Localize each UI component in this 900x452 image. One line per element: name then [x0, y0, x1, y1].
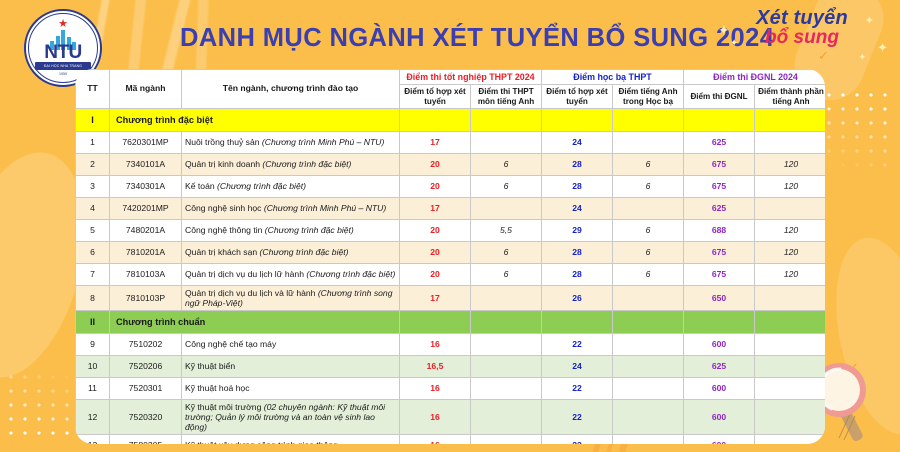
cell-thpt-anh: [471, 399, 542, 434]
cell-hocba-anh: 6: [613, 219, 684, 241]
cell-dgnl-anh: [755, 285, 826, 310]
cell-tt: 1: [76, 131, 110, 153]
section-spacer-cell: [755, 108, 826, 131]
section-numeral: I: [76, 108, 110, 131]
cell-hocba-anh: [613, 434, 684, 444]
cell-dgnl-anh: 120: [755, 241, 826, 263]
col-header-dgnl: Điểm thi ĐGNL: [684, 85, 755, 109]
cell-thpt-anh: [471, 333, 542, 355]
col-header-thpt-tohop: Điểm tổ hợp xét tuyển: [400, 85, 471, 109]
cell-ma-nganh: 7510202: [110, 333, 182, 355]
cell-thpt-tohop: 20: [400, 219, 471, 241]
cell-tt: 5: [76, 219, 110, 241]
cell-tt: 10: [76, 355, 110, 377]
section-spacer-cell: [684, 310, 755, 333]
cell-ten-nganh: Công nghệ chế tạo máy: [182, 333, 400, 355]
cell-dgnl-anh: 120: [755, 175, 826, 197]
logo-band-text: ĐẠI HỌC NHA TRANG: [44, 64, 82, 68]
col-header-hocba-tohop: Điểm tổ hợp xét tuyển: [542, 85, 613, 109]
section-spacer-cell: [755, 310, 826, 333]
cell-thpt-anh: [471, 377, 542, 399]
cell-tt: 12: [76, 399, 110, 434]
cell-thpt-anh: [471, 434, 542, 444]
cell-thpt-anh: 6: [471, 153, 542, 175]
cell-dgnl: 600: [684, 434, 755, 444]
section-label: Chương trình chuẩn: [110, 310, 400, 333]
section-spacer-cell: [471, 310, 542, 333]
section-spacer-cell: [684, 108, 755, 131]
cell-tt: 8: [76, 285, 110, 310]
cell-hocba-anh: [613, 333, 684, 355]
sparkle-icon-3: ✦: [865, 14, 874, 27]
table-row: 37340301AKế toán (Chương trình đặc biệt)…: [76, 175, 826, 197]
logo-star-icon: ★: [58, 19, 68, 30]
cell-dgnl: 675: [684, 241, 755, 263]
cell-dgnl: 675: [684, 175, 755, 197]
cell-ten-nganh: Kế toán (Chương trình đặc biệt): [182, 175, 400, 197]
page-title: DANH MỤC NGÀNH XÉT TUYỂN BỔ SUNG 2024: [180, 24, 725, 53]
cell-dgnl: 625: [684, 131, 755, 153]
cell-hocba-anh: 6: [613, 241, 684, 263]
cell-tt: 3: [76, 175, 110, 197]
table-row: 77810103AQuản trị dịch vụ du lịch lữ hàn…: [76, 263, 826, 285]
section-spacer-cell: [613, 310, 684, 333]
promo-badge-line2: bổ sung: [712, 28, 892, 48]
cell-ten-nganh: Kỹ thuật hoá học: [182, 377, 400, 399]
cell-dgnl: 675: [684, 263, 755, 285]
cell-thpt-tohop: 16,5: [400, 355, 471, 377]
cell-thpt-tohop: 16: [400, 377, 471, 399]
cell-thpt-anh: [471, 355, 542, 377]
cell-hocba-anh: [613, 377, 684, 399]
col-header-thpt-anh: Điểm thi THPT môn tiếng Anh: [471, 85, 542, 109]
cell-ma-nganh: 7520206: [110, 355, 182, 377]
table-row: 137580205Kỹ thuật xây dựng công trình gi…: [76, 434, 826, 444]
cell-tt: 9: [76, 333, 110, 355]
cell-dgnl: 625: [684, 197, 755, 219]
table-row: 27340101AQuản trị kinh doanh (Chương trì…: [76, 153, 826, 175]
cell-dgnl: 688: [684, 219, 755, 241]
cell-tt: 6: [76, 241, 110, 263]
cell-dgnl: 600: [684, 399, 755, 434]
cell-ten-nganh: Quản trị dịch vụ du lịch lữ hành (Chương…: [182, 263, 400, 285]
sparkle-icon-5: ✦: [858, 52, 866, 63]
sparkle-icon-2: ✦: [730, 38, 738, 49]
cell-hocba-tohop: 24: [542, 355, 613, 377]
cell-tt: 2: [76, 153, 110, 175]
table-row: 67810201AQuản trị khách sạn (Chương trìn…: [76, 241, 826, 263]
cell-ma-nganh: 7620301MP: [110, 131, 182, 153]
section-header-row: IIChương trình chuẩn: [76, 310, 826, 333]
cell-dgnl-anh: [755, 355, 826, 377]
cell-thpt-tohop: 16: [400, 399, 471, 434]
cell-dgnl: 600: [684, 333, 755, 355]
cell-hocba-tohop: 22: [542, 333, 613, 355]
cell-hocba-tohop: 28: [542, 263, 613, 285]
sparkle-icon-4: ✦: [877, 40, 888, 56]
cell-thpt-tohop: 17: [400, 131, 471, 153]
table-row: 97510202Công nghệ chế tạo máy1622600: [76, 333, 826, 355]
cell-thpt-anh: [471, 285, 542, 310]
cell-ma-nganh: 7520320: [110, 399, 182, 434]
cell-ten-nganh: Kỹ thuật biển: [182, 355, 400, 377]
section-spacer-cell: [400, 310, 471, 333]
cell-hocba-anh: [613, 131, 684, 153]
cell-hocba-tohop: 24: [542, 197, 613, 219]
cell-dgnl-anh: [755, 131, 826, 153]
cell-dgnl-anh: [755, 333, 826, 355]
section-label: Chương trình đặc biệt: [110, 108, 400, 131]
table-body: IChương trình đặc biệt17620301MPNuôi trồ…: [76, 108, 826, 444]
cell-ten-nganh: Quản trị dịch vụ du lịch và lữ hành (Chư…: [182, 285, 400, 310]
cell-thpt-tohop: 20: [400, 175, 471, 197]
table-row: 117520301Kỹ thuật hoá học1622600: [76, 377, 826, 399]
cell-dgnl: 650: [684, 285, 755, 310]
cell-tt: 13: [76, 434, 110, 444]
cell-ma-nganh: 7810103P: [110, 285, 182, 310]
cell-ten-nganh: Kỹ thuật xây dựng công trình giao thông: [182, 434, 400, 444]
table-row: 47420201MPCông nghệ sinh học (Chương trì…: [76, 197, 826, 219]
cell-hocba-tohop: 28: [542, 241, 613, 263]
cell-dgnl-anh: 120: [755, 219, 826, 241]
cell-dgnl-anh: 120: [755, 263, 826, 285]
section-spacer-cell: [400, 108, 471, 131]
section-header-row: IChương trình đặc biệt: [76, 108, 826, 131]
col-header-ma-nganh: Mã ngành: [110, 70, 182, 109]
tick-decoration-1: ✓: [818, 48, 829, 64]
cell-ten-nganh: Công nghệ sinh học (Chương trình Minh Ph…: [182, 197, 400, 219]
cell-hocba-anh: 6: [613, 175, 684, 197]
promo-badge: Xét tuyển bổ sung ✦ ✦ ✦ ✦ ✦: [712, 8, 892, 48]
cell-ten-nganh: Quản trị khách sạn (Chương trình đặc biệ…: [182, 241, 400, 263]
cell-dgnl: 600: [684, 377, 755, 399]
cell-hocba-anh: [613, 355, 684, 377]
cell-hocba-tohop: 22: [542, 399, 613, 434]
cell-ten-nganh: Nuôi trồng thuỷ sản (Chương trình Minh P…: [182, 131, 400, 153]
section-spacer-cell: [542, 310, 613, 333]
cell-ten-nganh: Kỹ thuật môi trường (02 chuyên ngành: Kỹ…: [182, 399, 400, 434]
cell-hocba-anh: [613, 399, 684, 434]
cell-ma-nganh: 7810103A: [110, 263, 182, 285]
table-row: 17620301MPNuôi trồng thuỷ sản (Chương tr…: [76, 131, 826, 153]
col-header-tt: TT: [76, 70, 110, 109]
col-group-header-thpt: Điểm thi tốt nghiệp THPT 2024: [400, 70, 542, 85]
admissions-table-card: TT Mã ngành Tên ngành, chương trình đào …: [75, 69, 825, 444]
cell-ten-nganh: Quản trị kinh doanh (Chương trình đặc bi…: [182, 153, 400, 175]
cell-thpt-tohop: 20: [400, 263, 471, 285]
cell-ten-nganh: Công nghệ thông tin (Chương trình đặc bi…: [182, 219, 400, 241]
cell-hocba-anh: 6: [613, 263, 684, 285]
cell-tt: 11: [76, 377, 110, 399]
cell-hocba-tohop: 29: [542, 219, 613, 241]
cell-hocba-tohop: 24: [542, 131, 613, 153]
cell-tt: 7: [76, 263, 110, 285]
table-row: 87810103PQuản trị dịch vụ du lịch và lữ …: [76, 285, 826, 310]
cell-thpt-anh: 6: [471, 241, 542, 263]
cell-thpt-tohop: 16: [400, 434, 471, 444]
cell-dgnl-anh: [755, 434, 826, 444]
cell-ma-nganh: 7520301: [110, 377, 182, 399]
cell-dgnl: 625: [684, 355, 755, 377]
cell-hocba-tohop: 22: [542, 377, 613, 399]
col-header-dgnl-anh: Điểm thành phần tiếng Anh: [755, 85, 826, 109]
cell-dgnl: 675: [684, 153, 755, 175]
cell-ma-nganh: 7340301A: [110, 175, 182, 197]
cell-hocba-tohop: 26: [542, 285, 613, 310]
col-group-header-dgnl: Điểm thi ĐGNL 2024: [684, 70, 826, 85]
cell-ma-nganh: 7580205: [110, 434, 182, 444]
logo-acronym: NTU: [44, 43, 82, 62]
section-spacer-cell: [542, 108, 613, 131]
section-numeral: II: [76, 310, 110, 333]
cell-thpt-tohop: 17: [400, 285, 471, 310]
logo-year: 1959: [59, 72, 67, 76]
cell-thpt-anh: [471, 197, 542, 219]
section-spacer-cell: [613, 108, 684, 131]
sparkle-icon-1: ✦: [718, 22, 730, 39]
cell-hocba-anh: 6: [613, 153, 684, 175]
cell-ma-nganh: 7480201A: [110, 219, 182, 241]
cell-dgnl-anh: [755, 399, 826, 434]
cell-hocba-tohop: 22: [542, 434, 613, 444]
cell-ma-nganh: 7340101A: [110, 153, 182, 175]
cell-hocba-anh: [613, 197, 684, 219]
tick-decoration-2: ✓: [848, 360, 859, 376]
col-header-hocba-anh: Điểm tiếng Anh trong Học bạ: [613, 85, 684, 109]
admissions-table: TT Mã ngành Tên ngành, chương trình đào …: [75, 69, 825, 444]
cell-thpt-tohop: 17: [400, 197, 471, 219]
cell-dgnl-anh: [755, 197, 826, 219]
cell-thpt-anh: 5,5: [471, 219, 542, 241]
cell-dgnl-anh: [755, 377, 826, 399]
cell-ma-nganh: 7420201MP: [110, 197, 182, 219]
col-group-header-hocba: Điểm học bạ THPT: [542, 70, 684, 85]
cell-thpt-anh: 6: [471, 263, 542, 285]
cell-hocba-tohop: 28: [542, 175, 613, 197]
table-header: TT Mã ngành Tên ngành, chương trình đào …: [76, 70, 826, 109]
cell-hocba-anh: [613, 285, 684, 310]
cell-thpt-tohop: 20: [400, 241, 471, 263]
cell-thpt-tohop: 16: [400, 333, 471, 355]
cell-thpt-anh: 6: [471, 175, 542, 197]
background-swoosh-right: [820, 229, 900, 443]
table-row: 57480201ACông nghệ thông tin (Chương trì…: [76, 219, 826, 241]
table-row: 127520320Kỹ thuật môi trường (02 chuyên …: [76, 399, 826, 434]
cell-thpt-anh: [471, 131, 542, 153]
dot-grid-bottom-left: [4, 370, 76, 442]
cell-hocba-tohop: 28: [542, 153, 613, 175]
cell-thpt-tohop: 20: [400, 153, 471, 175]
col-header-ten-nganh: Tên ngành, chương trình đào tạo: [182, 70, 400, 109]
cell-dgnl-anh: 120: [755, 153, 826, 175]
table-row: 107520206Kỹ thuật biển16,524625: [76, 355, 826, 377]
section-spacer-cell: [471, 108, 542, 131]
cell-ma-nganh: 7810201A: [110, 241, 182, 263]
cell-tt: 4: [76, 197, 110, 219]
logo-band: ĐẠI HỌC NHA TRANG: [35, 62, 91, 70]
